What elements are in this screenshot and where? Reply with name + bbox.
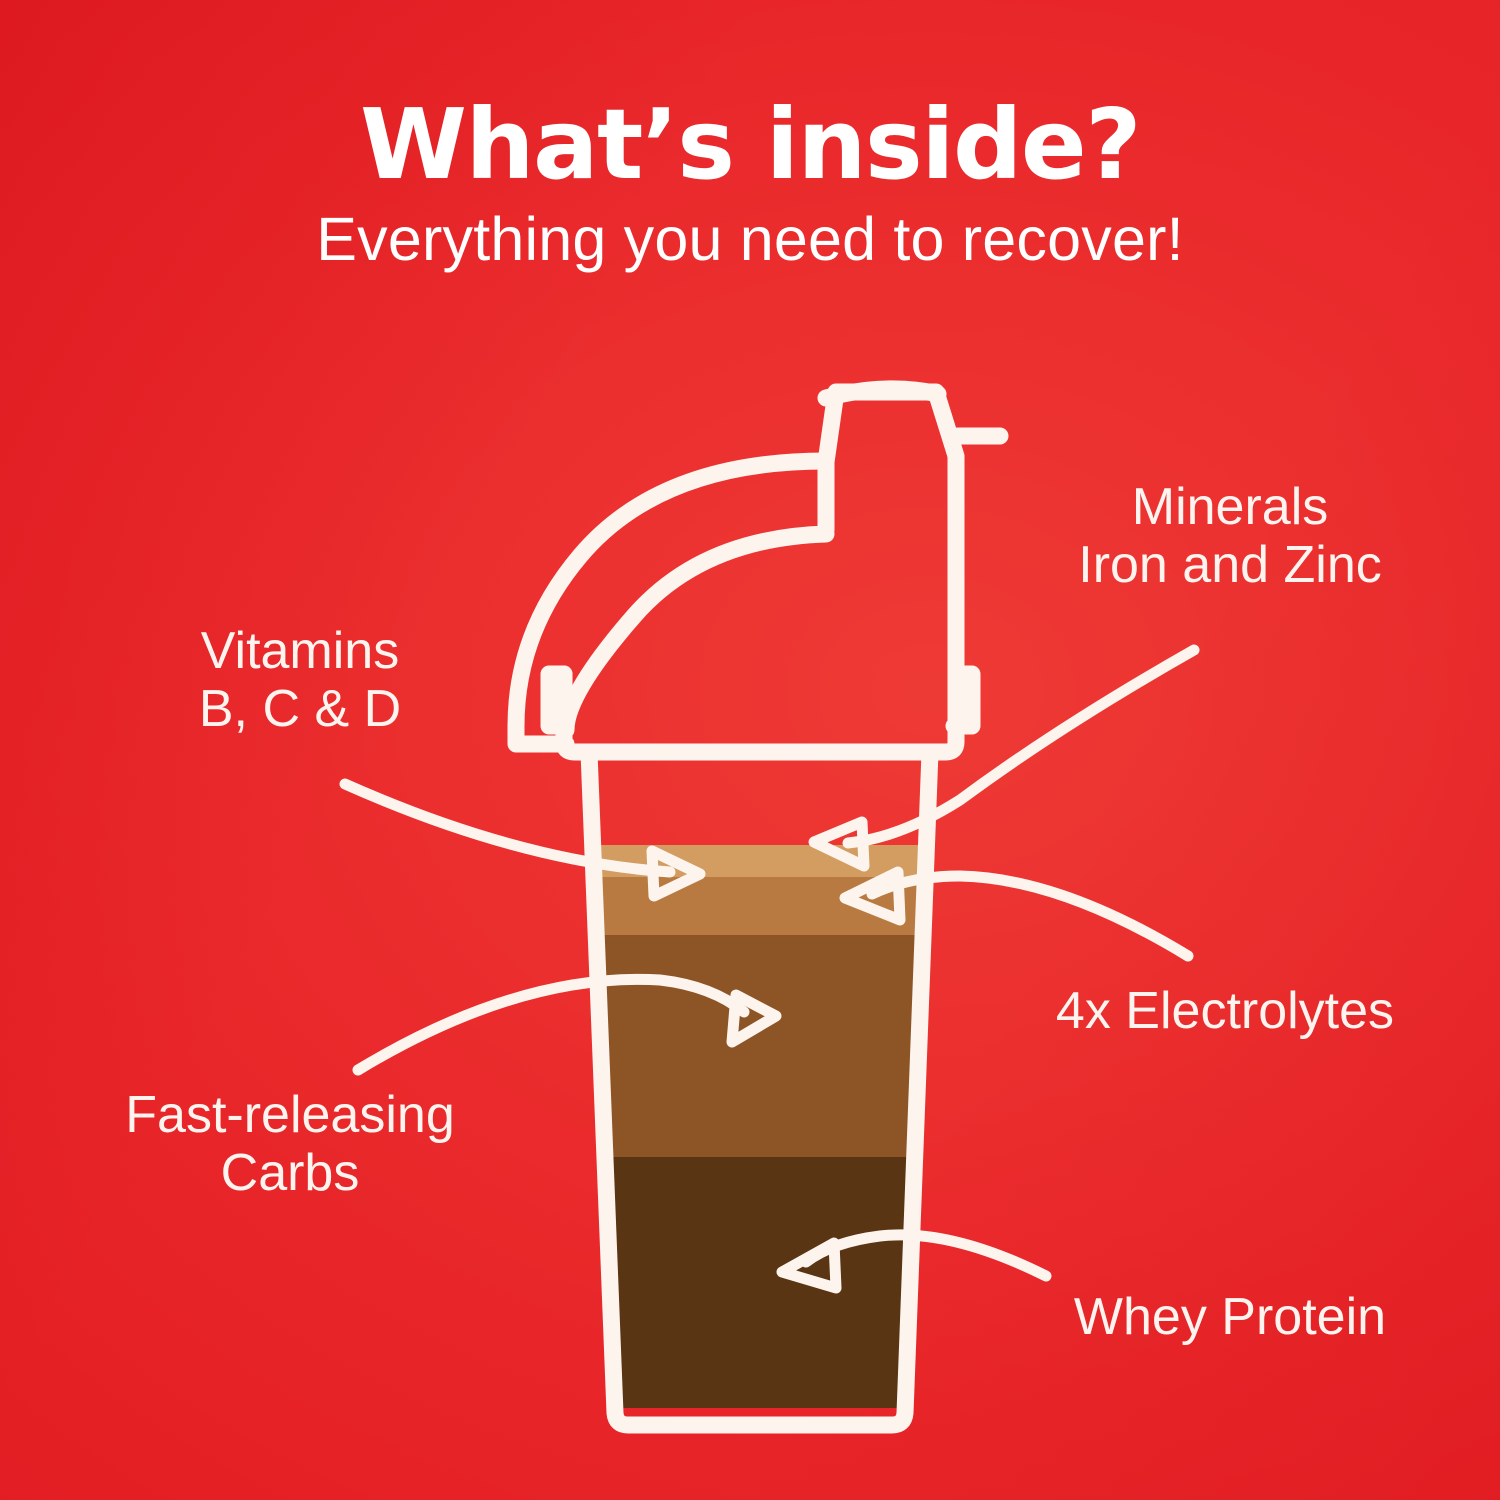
callout-label-whey: Whey Protein <box>1010 1288 1450 1346</box>
callout-label-minerals: Minerals Iron and Zinc <box>1010 478 1450 594</box>
spout-tower-lip <box>826 389 938 398</box>
lid-collar <box>564 674 956 752</box>
layer-carbs <box>560 935 960 1157</box>
cap-tower-right <box>826 392 956 674</box>
callout-label-carbs: Fast-releasing Carbs <box>60 1086 520 1202</box>
flip-handle-inner <box>566 534 826 730</box>
shaker-bottle-illustration <box>0 0 1500 1500</box>
callout-label-electrolytes: 4x Electrolytes <box>1010 982 1440 1040</box>
infographic-canvas: What’s inside? Everything you need to re… <box>0 0 1500 1500</box>
callout-label-vitamins: Vitamins B, C & D <box>120 622 480 738</box>
